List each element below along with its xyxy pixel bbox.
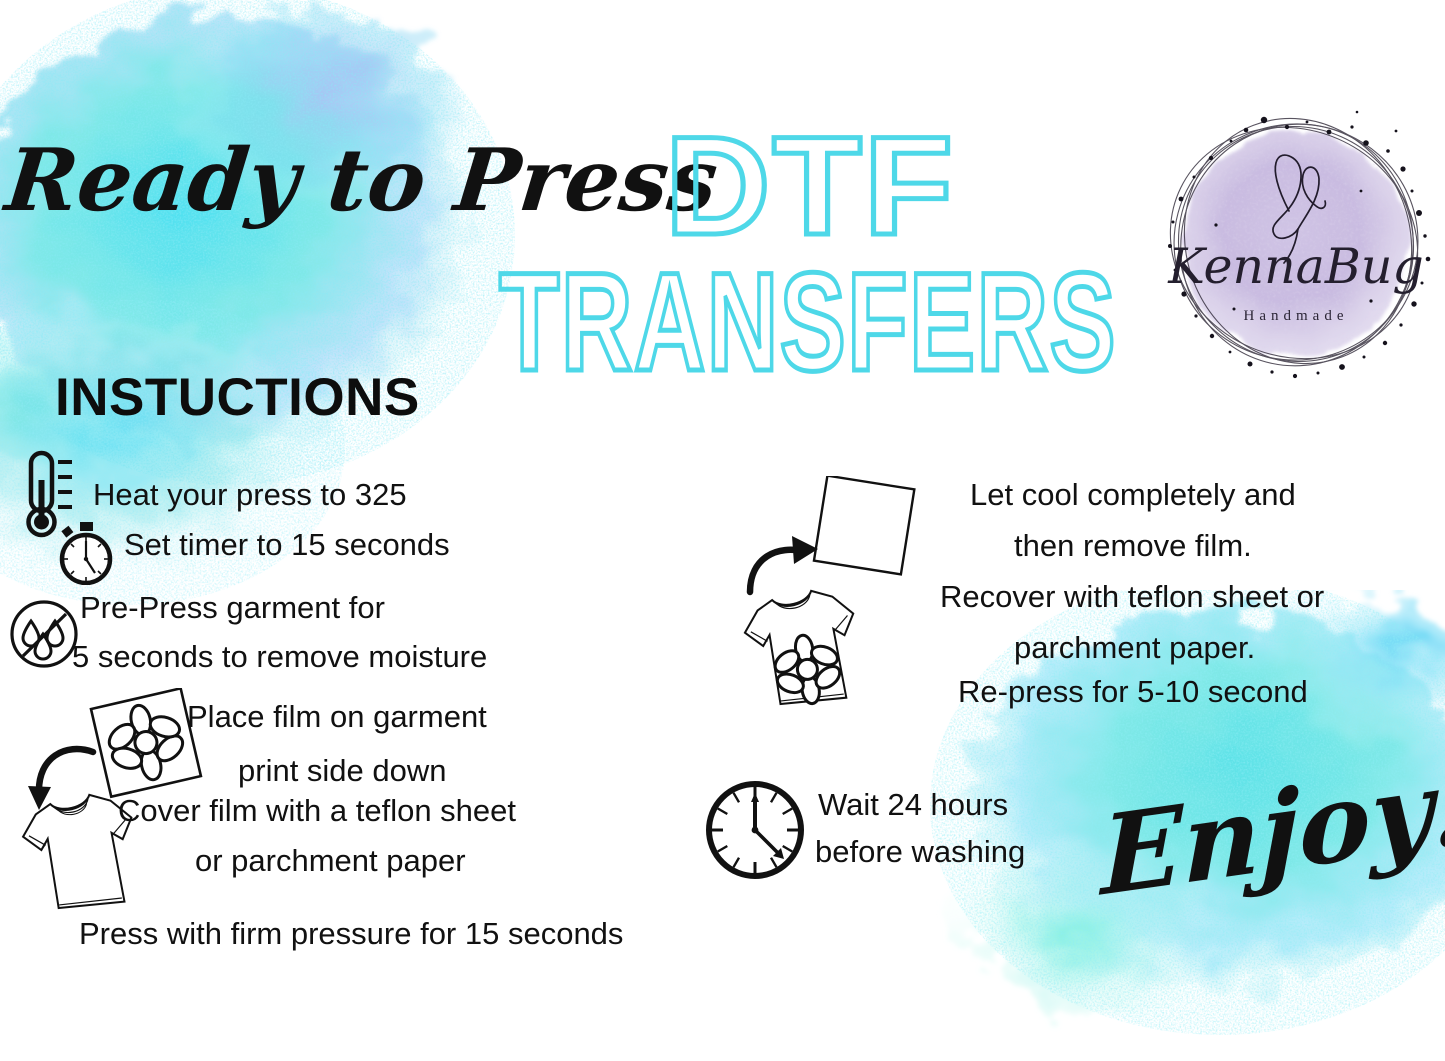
stopwatch-icon	[55, 521, 117, 585]
logo-brand-text: KennaBug	[1167, 238, 1424, 295]
step-cover-line1-text: Cover film with a teflon sheet	[118, 795, 516, 826]
step-recover-line2-text: parchment paper.	[1014, 632, 1255, 663]
step-cool-line2-text: then remove film.	[1014, 530, 1252, 561]
instructions-heading: INSTUCTIONS	[55, 367, 420, 428]
step-press-text: Press with firm pressure for 15 seconds	[79, 918, 623, 949]
step-timer-text: Set timer to 15 seconds	[124, 529, 450, 560]
step-cool-line1-text: Let cool completely and	[970, 479, 1296, 510]
no-moisture-icon	[8, 598, 80, 670]
clock-icon	[703, 778, 808, 883]
step-prepress-line2-text: 5 seconds to remove moisture	[72, 641, 487, 672]
step-cover-line2-text: or parchment paper	[195, 845, 466, 876]
brand-logo: KennaBug Handmade	[1156, 103, 1436, 388]
step-heat-text: Heat your press to 325	[93, 479, 407, 510]
step-place-line1-text: Place film on garment	[187, 701, 487, 732]
step-place-line2-text: print side down	[238, 755, 447, 786]
product-title: DTF TRANSFERS	[490, 122, 1130, 377]
step-prepress-line1-text: Pre-Press garment for	[80, 592, 385, 623]
step-repress-text: Re-press for 5-10 second	[958, 676, 1308, 707]
step-wait-line2-text: before washing	[815, 836, 1025, 867]
title-line-dtf: DTF	[665, 107, 955, 264]
step-wait-line1-text: Wait 24 hours	[818, 789, 1008, 820]
step-recover-line1-text: Recover with teflon sheet or	[940, 581, 1324, 612]
title-line-transfers: TRANSFERS	[499, 243, 1117, 400]
peel-film-icon	[812, 476, 917, 576]
closing-script: Enjoy!	[1118, 772, 1438, 932]
logo-tagline-text: Handmade	[1244, 308, 1349, 324]
instruction-card: Ready to Press DTF TRANSFERS	[0, 0, 1445, 1061]
tshirt-with-flower-icon	[738, 578, 866, 718]
closing-script-text: Enjoy!	[1098, 739, 1445, 921]
